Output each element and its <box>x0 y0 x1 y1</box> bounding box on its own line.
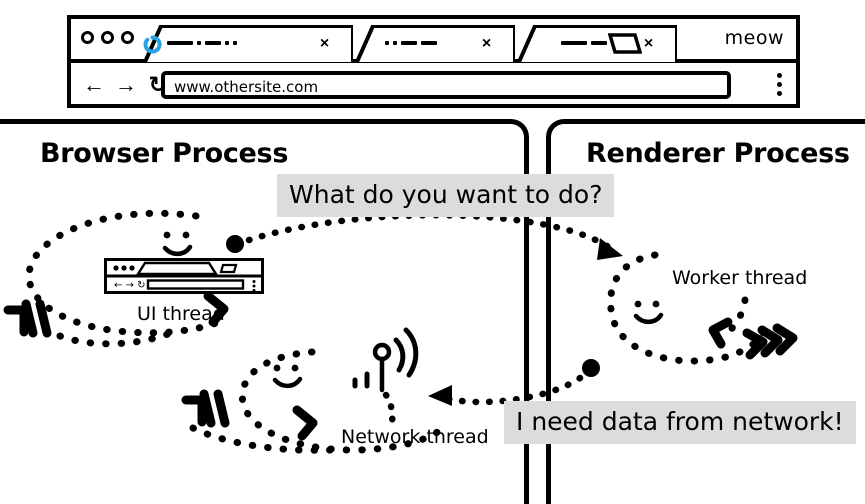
window-controls <box>81 31 134 44</box>
browser-tab-active[interactable]: × <box>131 25 353 63</box>
url-text: www.othersite.com <box>174 78 318 96</box>
tab-close-icon[interactable]: × <box>317 36 332 51</box>
browser-toolbar: ← → ↻ www.othersite.com <box>71 63 796 108</box>
message-need-data-from-network: I need data from network! <box>504 401 856 444</box>
message-what-do-you-want: What do you want to do? <box>277 174 614 217</box>
forward-icon[interactable]: → <box>115 72 137 98</box>
new-tab-shape-icon <box>608 33 642 54</box>
browser-brand-label: meow <box>725 27 784 49</box>
diagram-canvas: × × × <box>0 0 865 504</box>
minimize-dot-icon[interactable] <box>101 31 114 44</box>
tab-title-glyphs <box>385 41 437 45</box>
browser-process-title: Browser Process <box>40 138 288 169</box>
tab-title-glyphs <box>167 41 237 45</box>
renderer-process-title: Renderer Process <box>586 138 850 169</box>
tab-close-icon[interactable]: × <box>641 36 656 51</box>
ui-thread-label: UI thread <box>137 303 225 325</box>
browser-tab-second[interactable]: × <box>355 25 515 63</box>
browser-tab-third[interactable]: × <box>517 25 677 63</box>
tab-close-icon[interactable]: × <box>479 36 494 51</box>
tab-strip: × × × <box>71 19 796 63</box>
tab-title-glyphs <box>561 41 607 45</box>
new-tab-icon[interactable] <box>608 33 642 54</box>
url-bar[interactable]: www.othersite.com <box>161 71 731 99</box>
kebab-menu-icon[interactable] <box>777 73 782 96</box>
worker-thread-label: Worker thread <box>672 267 807 289</box>
network-thread-label: Network thread <box>341 426 489 448</box>
back-icon[interactable]: ← <box>83 72 105 98</box>
loading-spinner-icon <box>143 35 162 54</box>
browser-window-mock: × × × <box>67 15 800 108</box>
close-dot-icon[interactable] <box>81 31 94 44</box>
